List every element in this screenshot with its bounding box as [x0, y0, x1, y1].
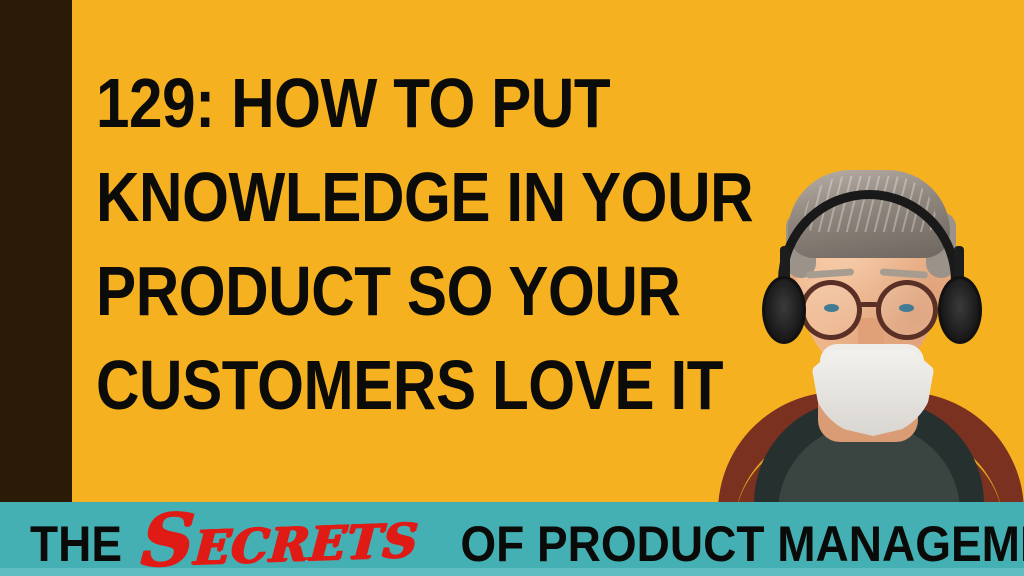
title-line-3: PRODUCT SO YOUR — [96, 244, 612, 338]
banner-underline — [0, 568, 1024, 576]
host-portrait-image — [700, 0, 1024, 502]
secrets-remainder: ECRETS — [192, 513, 420, 576]
glasses-bridge — [860, 302, 878, 307]
headphones-earcup-left — [762, 276, 806, 344]
episode-title: 129: HOW TO PUT KNOWLEDGE IN YOUR PRODUC… — [96, 56, 696, 432]
title-line-1: 129: HOW TO PUT — [96, 56, 612, 150]
left-accent-bar — [0, 0, 72, 502]
podcast-episode-thumbnail: 129: HOW TO PUT KNOWLEDGE IN YOUR PRODUC… — [0, 0, 1024, 576]
show-title-banner: THE SECRETS OF PRODUCT MANAGEMENT — [0, 502, 1024, 576]
headphones-earcup-right — [938, 276, 982, 344]
banner-word-tail: OF PRODUCT MANAGEMENT — [460, 516, 1024, 572]
secrets-capital-s: S — [139, 496, 198, 576]
banner-word-the: THE — [30, 516, 122, 572]
title-line-4: CUSTOMERS LOVE IT — [96, 338, 612, 432]
title-line-2: KNOWLEDGE IN YOUR — [96, 150, 612, 244]
show-title-row: THE SECRETS OF PRODUCT MANAGEMENT — [26, 508, 1024, 570]
banner-word-secrets: SECRETS — [139, 503, 421, 576]
